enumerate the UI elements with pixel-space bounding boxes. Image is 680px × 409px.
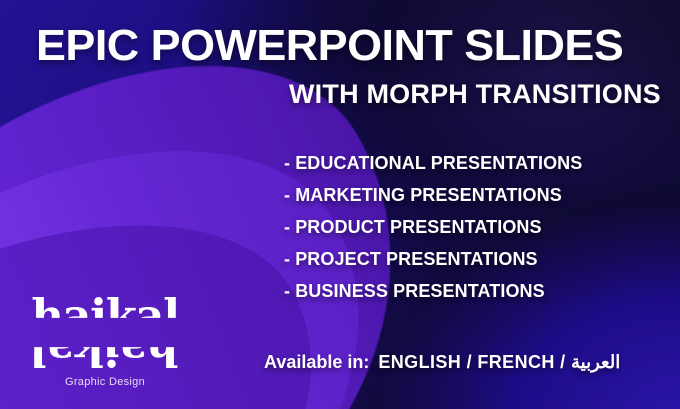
promo-poster: EPIC POWERPOINT SLIDES WITH MORPH TRANSI… — [0, 0, 680, 409]
list-item: - PRODUCT PRESENTATIONS — [284, 214, 582, 240]
logo-tagline: Graphic Design — [65, 376, 145, 388]
logo-ambigram-mark: haikal haikal — [31, 292, 179, 372]
list-item: - MARKETING PRESENTATIONS — [284, 182, 582, 208]
logo-wordmark-upright: haikal — [31, 293, 179, 339]
availability-languages: ENGLISH / FRENCH / العربية — [378, 352, 620, 373]
list-item: - EDUCATIONAL PRESENTATIONS — [284, 150, 582, 176]
poster-title: EPIC POWERPOINT SLIDES — [36, 21, 623, 71]
feature-list: - EDUCATIONAL PRESENTATIONS - MARKETING … — [284, 150, 582, 304]
brand-logo: haikal haikal Graphic Design — [30, 292, 180, 400]
list-item: - PROJECT PRESENTATIONS — [284, 246, 582, 272]
poster-subtitle: WITH MORPH TRANSITIONS — [289, 79, 661, 110]
logo-wordmark-inverted: haikal — [31, 326, 179, 372]
availability-label: Available in: — [264, 352, 369, 373]
list-item: - BUSINESS PRESENTATIONS — [284, 278, 582, 304]
availability-line: Available in: ENGLISH / FRENCH / العربية — [264, 352, 620, 373]
